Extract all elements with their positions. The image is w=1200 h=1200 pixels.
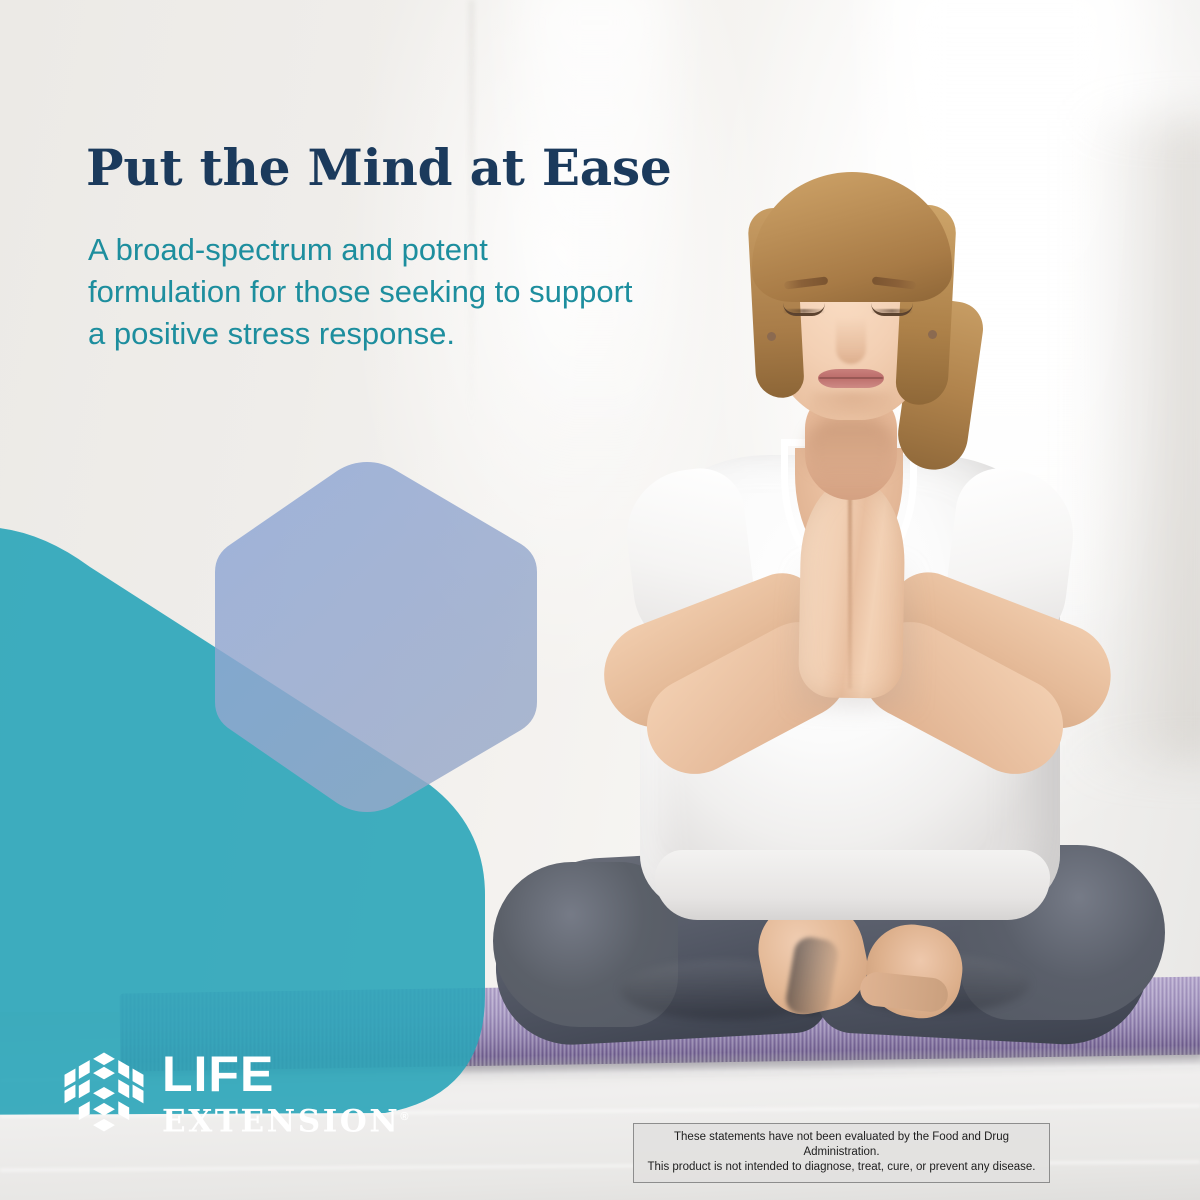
registered-trademark-icon: ® xyxy=(400,1111,408,1123)
brand-name-extension: EXTENSION® xyxy=(162,1100,408,1138)
left-earring xyxy=(767,332,776,341)
brand-wordmark: LIFE EXTENSION® xyxy=(162,1048,408,1138)
fda-disclaimer-line-1: These statements have not been evaluated… xyxy=(642,1130,1041,1160)
neck-shadow xyxy=(805,418,897,482)
life-extension-hexagon-snowflake-logomark xyxy=(62,1050,146,1134)
brand-name-extension-text: EXTENSION xyxy=(162,1103,400,1139)
page-title: Put the Mind at Ease xyxy=(86,138,672,197)
tshirt-hem xyxy=(655,850,1050,920)
hands-prayer-pose xyxy=(798,477,906,699)
brand-logo[interactable]: LIFE EXTENSION® xyxy=(62,1048,382,1134)
fda-disclaimer-box: These statements have not been evaluated… xyxy=(633,1123,1050,1183)
subheadline-text: A broad-spectrum and potent formulation … xyxy=(88,229,648,355)
lip-line xyxy=(819,377,883,379)
nose xyxy=(836,318,866,364)
hands-seam xyxy=(848,484,852,689)
right-eyelash xyxy=(872,309,912,313)
brand-name-life: LIFE xyxy=(162,1048,408,1100)
hair-crown xyxy=(752,172,952,302)
chin-shading xyxy=(812,392,892,416)
marketing-ad-canvas: Put the Mind at Ease A broad-spectrum an… xyxy=(0,0,1200,1200)
right-earring xyxy=(928,330,937,339)
fda-disclaimer-line-2: This product is not intended to diagnose… xyxy=(642,1160,1041,1175)
left-eyelash xyxy=(784,309,824,313)
